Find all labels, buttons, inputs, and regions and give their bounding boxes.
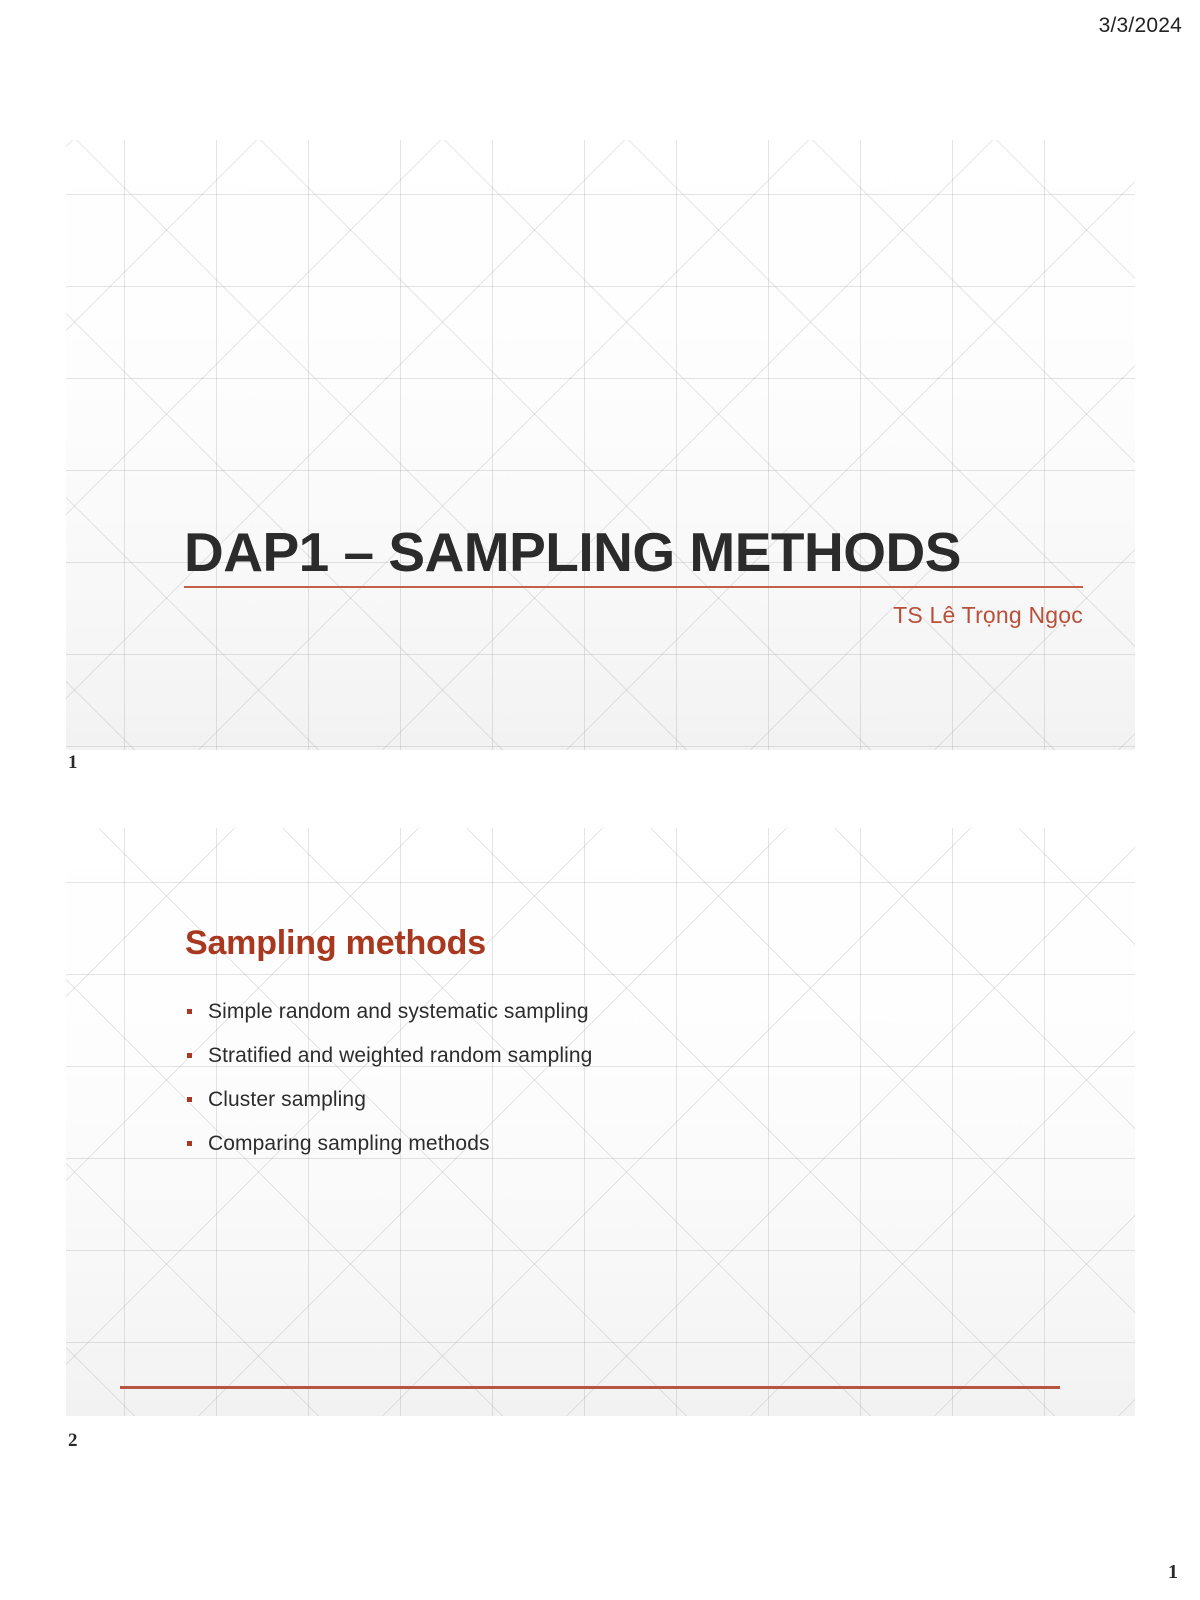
slide-2-content: Sampling methods Simple random and syste… xyxy=(66,828,1135,1416)
deck-subtitle-author: TS Lê Trọng Ngọc xyxy=(184,602,1083,629)
list-item: Cluster sampling xyxy=(187,1088,592,1111)
slide-2: Sampling methods Simple random and syste… xyxy=(66,828,1135,1416)
list-item-label: Comparing sampling methods xyxy=(208,1132,490,1155)
handout-page-number: 1 xyxy=(1168,1561,1178,1584)
bullet-square-icon xyxy=(187,1053,192,1058)
bullet-square-icon xyxy=(187,1097,192,1102)
bullet-square-icon xyxy=(187,1141,192,1146)
sampling-methods-list: Simple random and systematic sampling St… xyxy=(187,1000,592,1176)
title-underline-rule xyxy=(184,586,1083,588)
slide-1-content: DAP1 – SAMPLING METHODS TS Lê Trọng Ngọc xyxy=(66,140,1135,750)
list-item-label: Cluster sampling xyxy=(208,1088,366,1111)
bullet-square-icon xyxy=(187,1009,192,1014)
title-block: DAP1 – SAMPLING METHODS TS Lê Trọng Ngọc xyxy=(184,524,1083,629)
slide-number-1: 1 xyxy=(68,752,78,774)
list-item-label: Stratified and weighted random sampling xyxy=(208,1044,592,1067)
list-item: Stratified and weighted random sampling xyxy=(187,1044,592,1067)
slide-2-bottom-rule xyxy=(120,1386,1060,1389)
list-item: Comparing sampling methods xyxy=(187,1132,592,1155)
slide-1: DAP1 – SAMPLING METHODS TS Lê Trọng Ngọc xyxy=(66,140,1135,750)
slide-2-heading: Sampling methods xyxy=(185,924,486,963)
slide-number-2: 2 xyxy=(68,1430,78,1452)
deck-title: DAP1 – SAMPLING METHODS xyxy=(184,524,1083,580)
list-item-label: Simple random and systematic sampling xyxy=(208,1000,589,1023)
handout-date: 3/3/2024 xyxy=(1099,14,1182,38)
list-item: Simple random and systematic sampling xyxy=(187,1000,592,1023)
